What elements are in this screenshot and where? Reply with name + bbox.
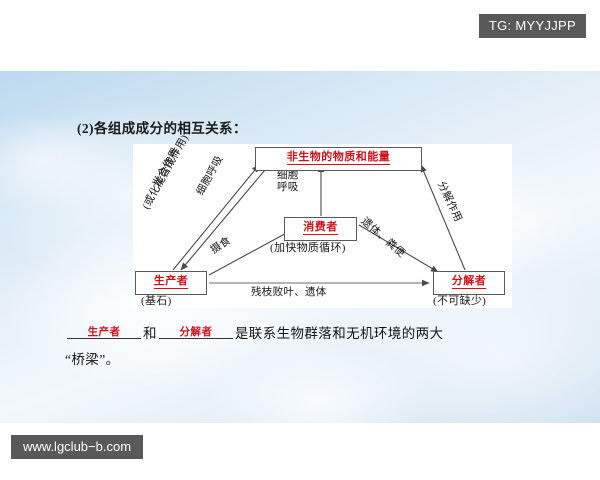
node-consumer: 消费者 (284, 217, 357, 241)
node-abiotic-matter-energy: 非生物的物质和能量 (255, 147, 422, 171)
footer-url-badge: www.lgclub−b.com (11, 435, 143, 459)
caption-producer: (基石) (141, 292, 172, 308)
caption-decomposer: (不可缺少) (433, 292, 486, 308)
node-abiotic-label: 非生物的物质和能量 (287, 152, 391, 165)
conclusion-tail: 是联系生物群落和无机环境的两大 (235, 326, 444, 341)
answer-blank-2[interactable]: 分解者 (159, 327, 233, 339)
edge-label-cell-respiration-line1: 细胞 (277, 170, 299, 182)
node-consumer-label: 消费者 (303, 222, 338, 235)
node-producer-label: 生产者 (154, 276, 189, 289)
ecosystem-relationship-diagram: 非生物的物质和能量 消费者 生产者 分解者 (加快物质循环) (基石) (不可缺… (133, 144, 512, 308)
caption-consumer: (加快物质循环) (270, 239, 346, 255)
conclusion-connector: 和 (143, 326, 157, 341)
slide-canvas: (2)各组成成分的相互关系： 非生物 (0, 71, 600, 423)
conclusion-line2: “桥梁”。 (65, 347, 535, 373)
edge-label-cell-respiration: 细胞 呼吸 (277, 170, 299, 194)
page-title: (2)各组成成分的相互关系： (77, 117, 247, 137)
edge-label-cell-respiration-line2: 呼吸 (277, 182, 299, 194)
arrow-abiotic-to-producer (181, 164, 270, 270)
conclusion-text: 生产者和分解者是联系生物群落和无机环境的两大 “桥梁”。 (65, 321, 535, 374)
edge-label-litter-remains: 残枝败叶、遗体 (251, 287, 327, 299)
node-decomposer-label: 分解者 (452, 276, 487, 289)
answer-blank-1[interactable]: 生产者 (67, 327, 141, 339)
tg-watermark-badge: TG: MYYJJPP (479, 14, 586, 38)
